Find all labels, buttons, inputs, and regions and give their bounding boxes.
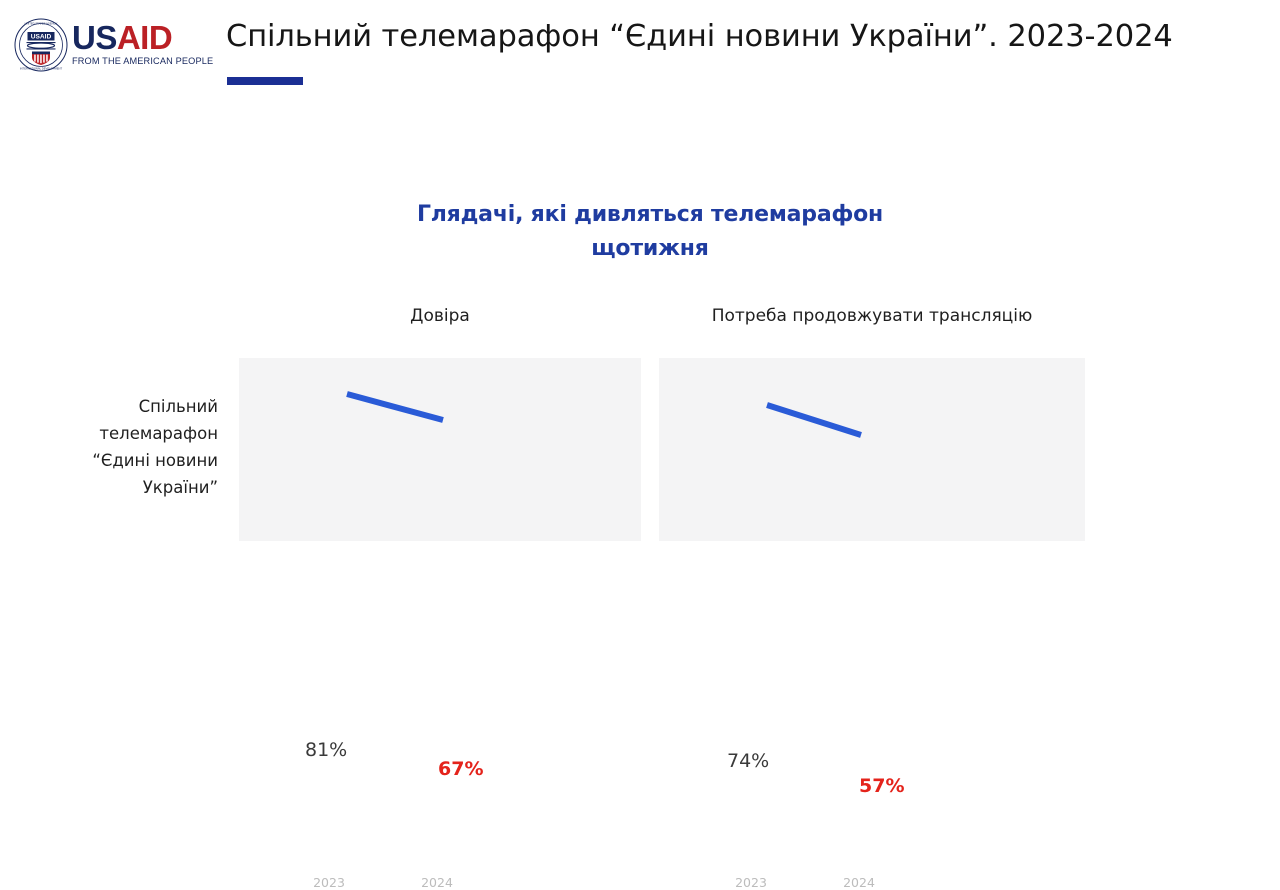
usaid-wordmark: USAID FROM THE AMERICAN PEOPLE <box>72 21 208 71</box>
usaid-tagline: FROM THE AMERICAN PEOPLE <box>72 56 208 66</box>
x-tick-2023-potreba: 2023 <box>721 875 781 890</box>
svg-text:INTERNATIONAL DEVELOPMENT: INTERNATIONAL DEVELOPMENT <box>20 67 63 71</box>
x-tick-2023-dovira: 2023 <box>299 875 359 890</box>
chart-panel-dovira: 81% 67% 2023 2024 <box>239 358 641 541</box>
row-label-line-4: України” <box>40 474 218 501</box>
trend-line-potreba <box>659 358 1085 541</box>
svg-text:UNITED STATES AGENCY: UNITED STATES AGENCY <box>25 22 58 26</box>
value-label-end-dovira: 67% <box>438 758 483 780</box>
value-label-start-dovira: 81% <box>305 739 347 761</box>
chart-title-line-2: щотижня <box>340 232 960 266</box>
usaid-us-text: US <box>72 19 117 56</box>
page-title: Спільний телемарафон “Єдині новини Украї… <box>226 19 1173 54</box>
x-tick-2024-dovira: 2024 <box>407 875 467 890</box>
row-label-line-3: “Єдині новини <box>40 447 218 474</box>
value-label-end-potreba: 57% <box>859 775 904 797</box>
chart-title: Глядачі, які дивляться телемарафон щотиж… <box>340 198 960 266</box>
svg-text:USAID: USAID <box>31 34 52 41</box>
usaid-seal-icon: USAID UNITED STATES AGENCY <box>14 18 68 72</box>
column-header-dovira: Довіра <box>239 306 641 326</box>
usaid-aid-text: AID <box>117 19 172 56</box>
title-accent-bar <box>227 77 303 85</box>
row-label-telemarathon: Спільний телемарафон “Єдині новини Украї… <box>40 393 218 501</box>
value-label-start-potreba: 74% <box>727 750 769 772</box>
chart-panel-potreba: 74% 57% 2023 2024 <box>659 358 1085 541</box>
trend-line-dovira <box>239 358 641 541</box>
chart-title-line-1: Глядачі, які дивляться телемарафон <box>340 198 960 232</box>
usaid-logo: USAID UNITED STATES AGENCY <box>14 16 210 74</box>
row-label-line-1: Спільний <box>40 393 218 420</box>
slide-header: USAID UNITED STATES AGENCY <box>0 0 1280 100</box>
column-header-potreba: Потреба продовжувати трансляцію <box>659 306 1085 326</box>
x-tick-2024-potreba: 2024 <box>829 875 889 890</box>
row-label-line-2: телемарафон <box>40 420 218 447</box>
usaid-letters: USAID <box>72 21 208 55</box>
